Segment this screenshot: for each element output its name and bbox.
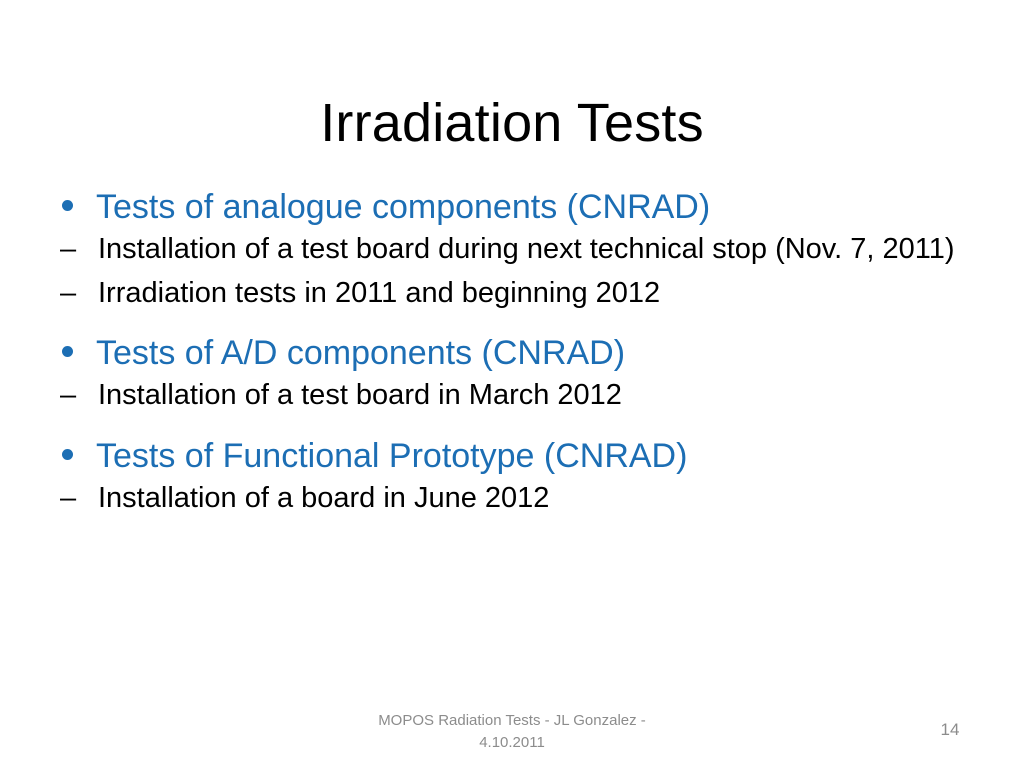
en-dash-icon: – — [60, 377, 76, 415]
bullet-item-level-1: Tests of A/D components (CNRAD) — [52, 332, 962, 375]
bullet-level-2-label: Installation of a test board during next… — [98, 231, 962, 269]
bullet-level-2-label: Installation of a board in June 2012 — [98, 480, 962, 518]
bullet-item-level-2: – Installation of a board in June 2012 — [52, 480, 962, 518]
bullet-item-level-1: Tests of analogue components (CNRAD) — [52, 186, 962, 229]
slide-body: Tests of analogue components (CNRAD) – I… — [52, 186, 962, 523]
slide-canvas: Irradiation Tests Tests of analogue comp… — [0, 0, 1024, 768]
group-spacer — [52, 421, 962, 435]
bullet-item-level-2: – Installation of a test board during ne… — [52, 231, 962, 269]
bullet-list-level-2: – Installation of a test board during ne… — [52, 231, 962, 312]
bullet-dot-icon — [62, 332, 75, 375]
group-spacer — [52, 318, 962, 332]
bullet-level-1-label: Tests of analogue components (CNRAD) — [96, 186, 962, 229]
footer-line-1: MOPOS Radiation Tests - JL Gonzalez - — [262, 710, 762, 732]
en-dash-icon: – — [60, 480, 76, 518]
bullet-item-level-1: Tests of Functional Prototype (CNRAD) — [52, 435, 962, 478]
page-number: 14 — [900, 720, 1000, 740]
bullet-list-level-1: Tests of analogue components (CNRAD) – I… — [52, 186, 962, 517]
bullet-level-2-label: Installation of a test board in March 20… — [98, 377, 962, 415]
bullet-dot-icon — [62, 435, 75, 478]
page-title: Irradiation Tests — [0, 92, 1024, 156]
bullet-level-2-label: Irradiation tests in 2011 and beginning … — [98, 275, 962, 313]
bullet-level-1-label: Tests of Functional Prototype (CNRAD) — [96, 435, 962, 478]
bullet-level-1-label: Tests of A/D components (CNRAD) — [96, 332, 962, 375]
en-dash-icon: – — [60, 275, 76, 313]
bullet-list-level-2: – Installation of a test board in March … — [52, 377, 962, 415]
bullet-list-level-2: – Installation of a board in June 2012 — [52, 480, 962, 518]
bullet-dot-icon — [62, 186, 75, 229]
footer-line-2: 4.10.2011 — [262, 732, 762, 754]
bullet-item-level-2: – Installation of a test board in March … — [52, 377, 962, 415]
slide-footer: MOPOS Radiation Tests - JL Gonzalez - 4.… — [262, 710, 762, 754]
en-dash-icon: – — [60, 231, 76, 269]
bullet-item-level-2: – Irradiation tests in 2011 and beginnin… — [52, 275, 962, 313]
